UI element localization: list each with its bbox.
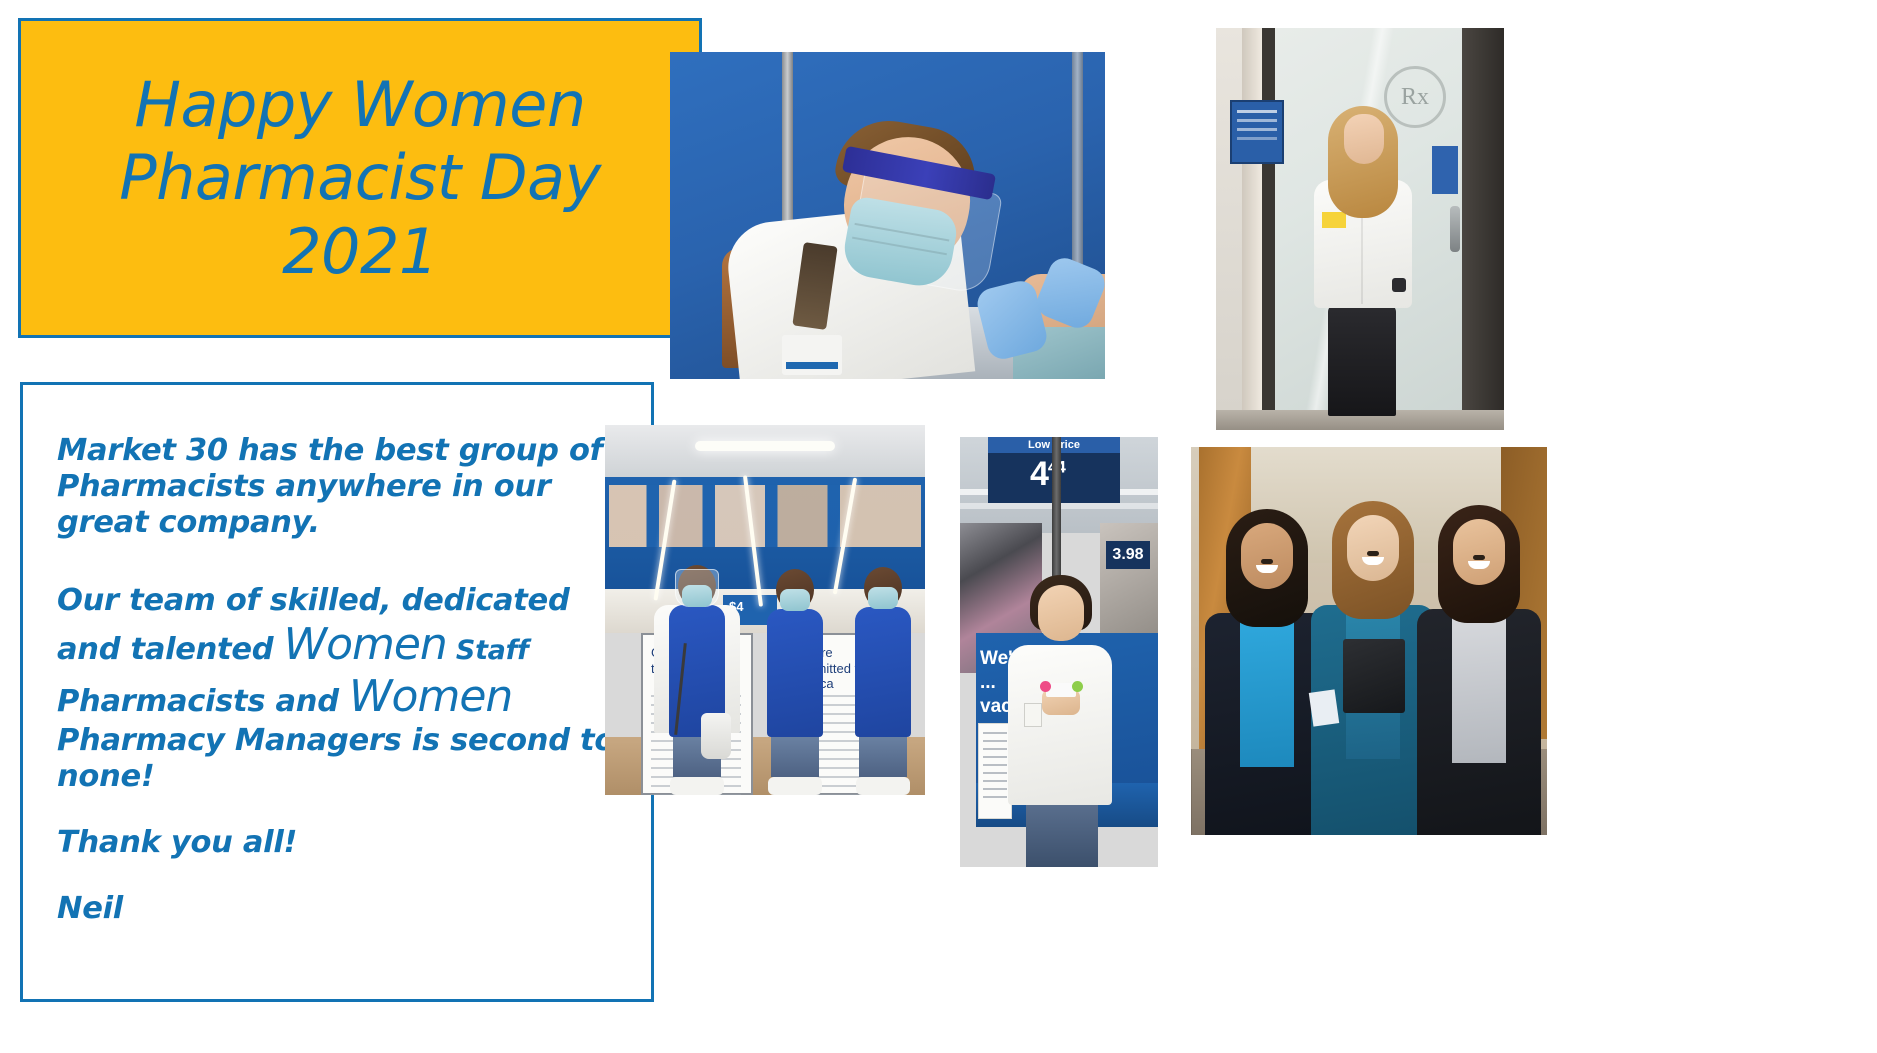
message-emphasis-women-1: Women [284,619,447,670]
pharmacist-face [1038,585,1084,641]
face [1453,519,1505,585]
photo-pharmacist-door [1216,28,1504,430]
uniform-top [767,609,823,737]
door-edge [1262,28,1275,430]
page-title: Happy Women Pharmacist Day 2021 [105,68,615,287]
door-placard [1432,146,1458,194]
lollipop-pink [1040,681,1051,692]
lollipop-green [1072,681,1083,692]
door-frame [1242,28,1262,430]
ceiling-light [695,441,836,451]
eye [1265,559,1273,564]
held-paper [1309,689,1339,726]
message-signature: Neil [57,891,617,927]
face [1347,515,1399,581]
door-jamb [1462,28,1504,430]
uniform-top [855,607,911,737]
message-paragraph-2: Our team of skilled, dedicated and talen… [57,583,617,795]
slide-canvas: Happy Women Pharmacist Day 2021 Market 3… [0,0,1877,1053]
team-member [837,567,925,795]
rx-icon [1384,66,1446,128]
surgical-mask [868,587,898,609]
message-run-4: Pharmacists and [57,684,349,719]
eye [1371,551,1379,556]
held-folder [1343,639,1405,713]
shoes [856,777,910,795]
pharmacist-face [1344,114,1384,164]
wall-photo-strip [609,485,921,547]
message-paragraph-1: Market 30 has the best group of Pharmaci… [57,433,617,541]
message-box: Market 30 has the best group of Pharmaci… [20,382,654,1002]
blouse [1452,613,1506,763]
pharmacist-trousers [1328,304,1396,416]
woman-right [1419,505,1539,835]
sanitizer-sprayer [701,713,731,759]
shoes [670,777,724,795]
info-flyer [978,723,1012,819]
blouse [1240,617,1294,767]
message-run-3: Staff [447,635,529,666]
name-badge [1322,212,1346,228]
wall-notice-sign [1230,100,1284,164]
name-badge [782,335,842,375]
eye [1477,555,1485,560]
wristwatch [1392,278,1406,292]
photo-pharmacy-team: Get your shot to We are committed to you… [605,425,925,795]
pharmacist-jeans [1026,803,1098,867]
photo-three-women [1191,447,1547,835]
ceiling [605,425,925,477]
title-box: Happy Women Pharmacist Day 2021 [18,18,702,338]
surgical-mask [780,589,810,611]
photo-vaccine-booth: 444 3.98 [960,437,1158,867]
name-badge [1024,703,1042,727]
message-emphasis-women-2: Women [349,671,512,722]
shoes [768,777,822,795]
message-paragraph-3: Thank you all! [57,825,617,861]
photo-vaccination [670,52,1105,379]
secondary-price-tag: 3.98 [1106,541,1150,569]
surgical-mask [682,585,712,607]
message-run-6: Pharmacy Managers is second to none! [57,723,615,794]
face [1241,523,1293,589]
door-handle [1450,206,1460,252]
team-member [649,565,745,795]
